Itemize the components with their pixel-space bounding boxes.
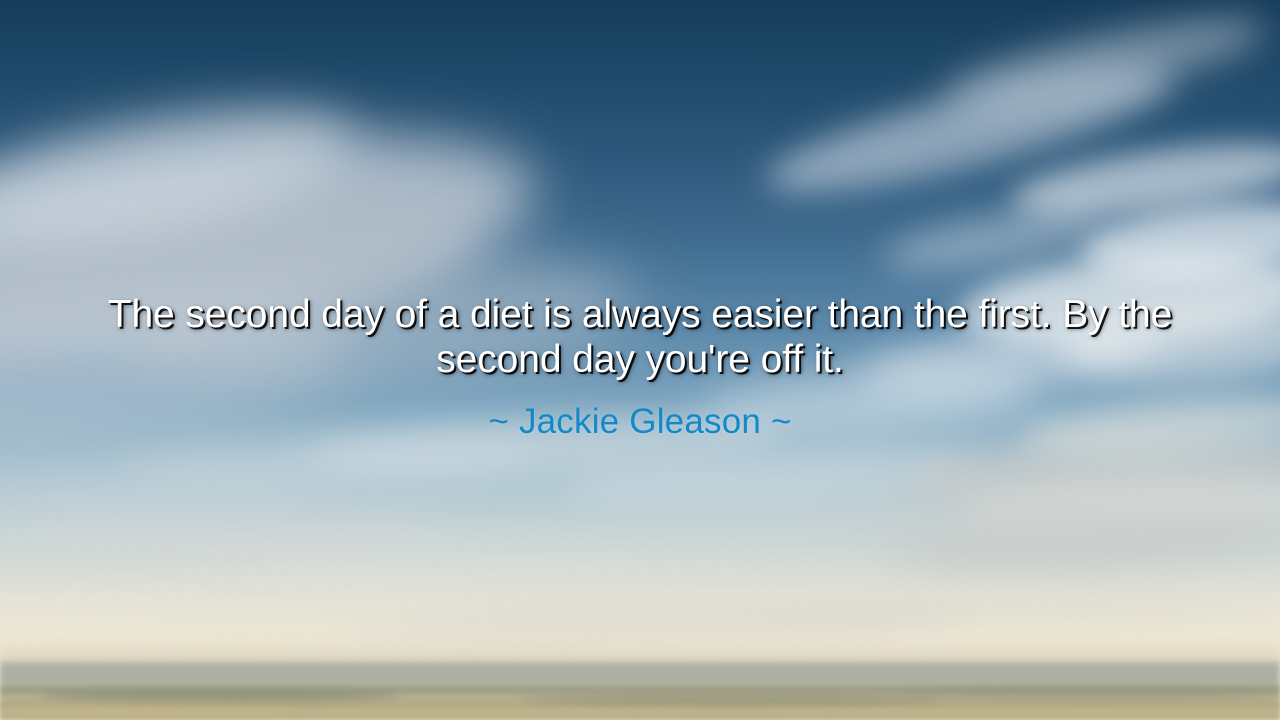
quote-card: The second day of a diet is always easie… [0,0,1280,720]
quote-text: The second day of a diet is always easie… [90,292,1190,382]
land-texture-2 [520,694,940,705]
land-texture-3 [900,688,1280,700]
quote-author: ~ Jackie Gleason ~ [90,402,1190,443]
land-texture-4 [0,706,300,716]
quote-block: The second day of a diet is always easie… [90,292,1190,443]
land-texture-1 [40,690,400,702]
